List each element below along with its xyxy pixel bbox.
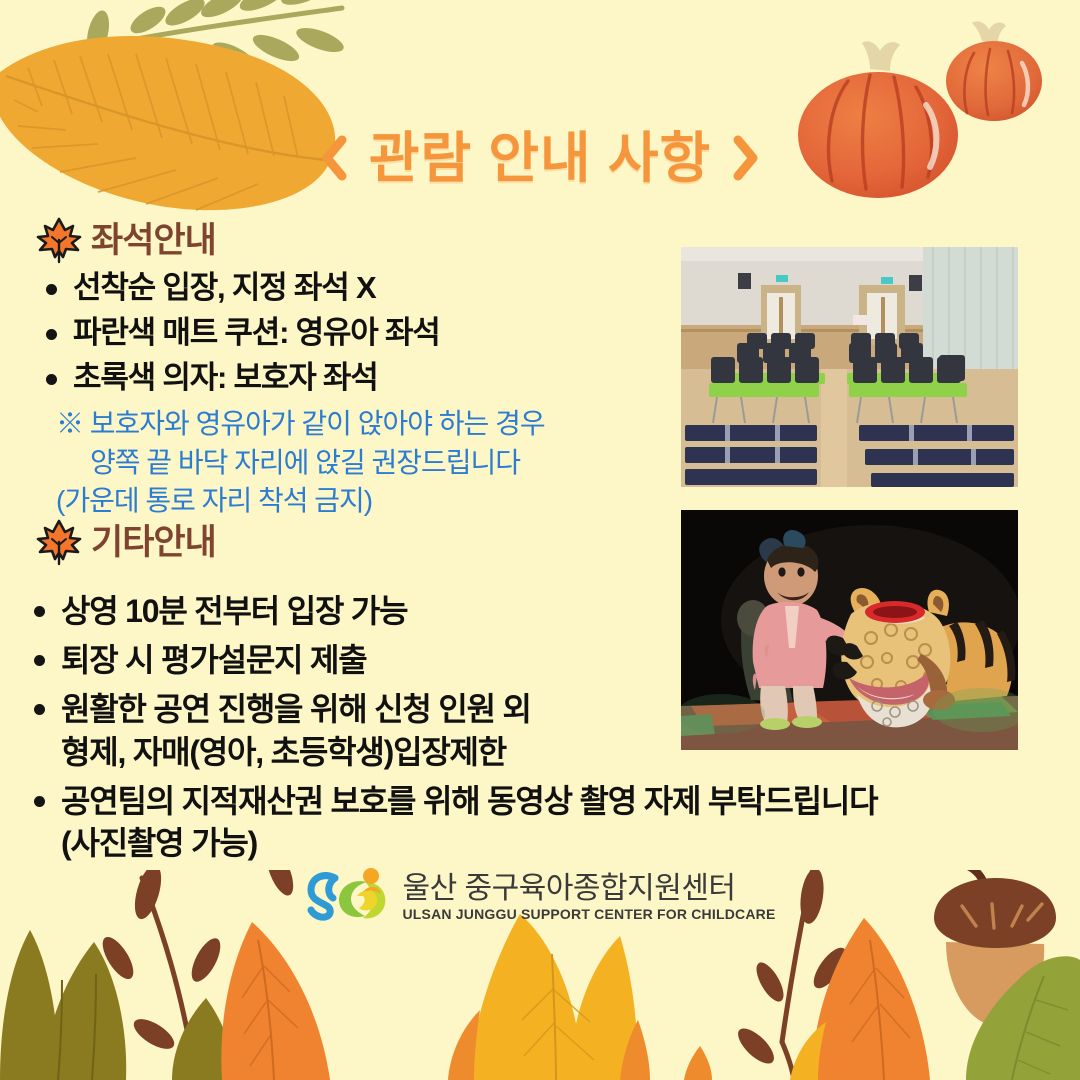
title-row: 관람 안내 사항 (0, 118, 1080, 198)
list-item-label: 선착순 입장, 지정 좌석 X (73, 268, 375, 309)
section-heading-etc: 기타안내 (36, 518, 216, 566)
olive-branch-icon (83, 0, 346, 86)
green-leaf-right (966, 956, 1080, 1080)
poster-canvas: 관람 안내 사항 좌석안내 선착순 입장, 지정 좌석 X 파란색 매트 쿠션:… (0, 0, 1080, 1080)
auditorium-photo (681, 247, 1018, 487)
list-item-label: 퇴장 시 평가설문지 제출 (61, 639, 366, 681)
puppet-show-photo (681, 510, 1018, 750)
section-title-etc: 기타안내 (91, 525, 216, 560)
list-item: 초록색 의자: 보호자 좌석 (46, 358, 666, 399)
list-item: 선착순 입장, 지정 좌석 X (46, 268, 666, 309)
orange-leaf-right (790, 918, 930, 1080)
section-heading-seat: 좌석안내 (36, 216, 216, 264)
pumpkin-small-icon (946, 21, 1042, 121)
bullet-dot-icon (46, 374, 57, 385)
logo-name-korean: 울산 중구육아종합지원센터 (403, 872, 736, 906)
chevron-right-icon (731, 134, 761, 182)
organization-logo: 울산 중구육아종합지원센터 ULSAN JUNGGU SUPPORT CENTE… (0, 862, 1080, 932)
seat-note-line-3: (가운데 통로 자리 착석 금지) (56, 482, 686, 521)
maple-leaf-icon (36, 216, 82, 264)
puppet-show-photo-art (681, 510, 1018, 750)
bullet-dot-icon (46, 329, 57, 340)
list-item: 공연팀의 지적재산권 보호를 위해 동영상 촬영 자제 부탁드립니다(사진촬영 … (34, 780, 1044, 864)
seat-note-line-2: 양쪽 끝 바닥 자리에 앉길 권장드립니다 (56, 444, 686, 483)
bullet-dot-icon (34, 796, 45, 807)
list-item-label: 초록색 의자: 보호자 좌석 (73, 358, 378, 399)
seat-bullet-list: 선착순 입장, 지정 좌석 X 파란색 매트 쿠션: 영유아 좌석 초록색 의자… (46, 268, 666, 403)
logo-text-block: 울산 중구육아종합지원센터 ULSAN JUNGGU SUPPORT CENTE… (403, 872, 776, 922)
bullet-dot-icon (34, 704, 45, 715)
seat-note-line-1: ※ 보호자와 영유아가 같이 앉아야 하는 경우 (56, 405, 686, 444)
logo-name-english: ULSAN JUNGGU SUPPORT CENTER FOR CHILDCAR… (403, 906, 776, 922)
list-item-label: 원활한 공연 진행을 위해 신청 인원 외형제, 자매(영아, 초등학생)입장제… (61, 688, 531, 772)
yellow-leaf-center (448, 914, 650, 1080)
bullet-dot-icon (34, 606, 45, 617)
olive-leaf-mid-left (172, 998, 234, 1080)
list-item: 파란색 매트 쿠션: 영유아 좌석 (46, 313, 666, 354)
auditorium-photo-art (681, 247, 1018, 487)
chevron-left-icon (319, 134, 349, 182)
sc-logo-mark-icon (305, 866, 389, 928)
bullet-dot-icon (34, 655, 45, 666)
maple-leaf-icon (36, 518, 82, 566)
olive-leaves-left (0, 930, 126, 1080)
list-item-label: 상영 10분 전부터 입장 가능 (61, 590, 407, 632)
bullet-dot-icon (46, 284, 57, 295)
list-item-label: 파란색 매트 쿠션: 영유아 좌석 (73, 313, 440, 354)
page-title: 관람 안내 사항 (369, 131, 711, 186)
section-title-seat: 좌석안내 (91, 223, 216, 258)
orange-leaf-left (221, 922, 330, 1080)
seat-note: ※ 보호자와 영유아가 같이 앉아야 하는 경우 양쪽 끝 바닥 자리에 앉길 … (56, 405, 686, 521)
small-orange-leaf-center (684, 1046, 712, 1080)
list-item-label: 공연팀의 지적재산권 보호를 위해 동영상 촬영 자제 부탁드립니다(사진촬영 … (61, 780, 877, 864)
